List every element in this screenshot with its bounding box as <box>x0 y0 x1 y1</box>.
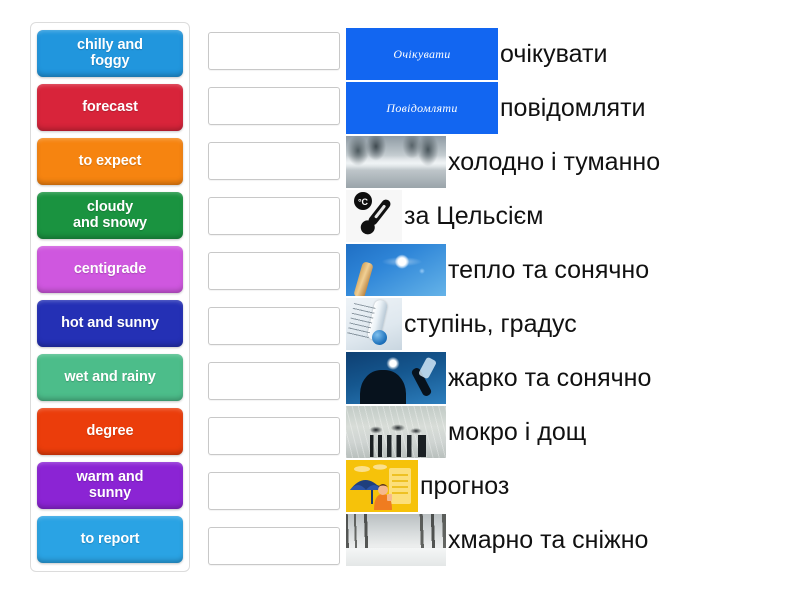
term-tile-chilly-and-foggy[interactable]: chilly and foggy <box>37 30 183 77</box>
term-line-1: cloudy <box>87 199 133 215</box>
foggy-lake-image <box>346 136 446 188</box>
drop-zone-7[interactable] <box>208 362 340 400</box>
term-tile-label: to report <box>81 532 140 548</box>
definition-row: ступінь, градус <box>346 297 798 351</box>
term-tile-hot-and-sunny[interactable]: hot and sunny <box>37 300 183 347</box>
definition-text: за Цельсієм <box>404 204 544 229</box>
snowy-road-image <box>346 514 446 566</box>
drop-zone-10[interactable] <box>208 527 340 565</box>
definition-row: жарко та сонячно <box>346 351 798 405</box>
word-ochikuvaty-image: Очікувати <box>346 28 498 80</box>
definition-row: прогноз <box>346 459 798 513</box>
forecast-umbrella-illustration <box>346 460 418 512</box>
term-line-2: sunny <box>89 485 131 501</box>
drop-zone-6[interactable] <box>208 307 340 345</box>
term-tile-wet-and-rainy[interactable]: wet and rainy <box>37 354 183 401</box>
person-drinking-sun-image <box>346 352 446 404</box>
drop-zone-1[interactable] <box>208 32 340 70</box>
definition-row: °C за Цельсієм <box>346 189 798 243</box>
drop-zone-9[interactable] <box>208 472 340 510</box>
definition-text: мокро і дощ <box>448 420 586 445</box>
definition-row: тепло та сонячно <box>346 243 798 297</box>
term-tile-label: wet and rainy <box>64 370 155 386</box>
term-tile-warm-and-sunny[interactable]: warm and sunny <box>37 462 183 509</box>
term-line-2: foggy <box>91 53 130 69</box>
definition-row: Повідомляти повідомляти <box>346 81 798 135</box>
term-tile-label: warm and sunny <box>77 470 144 501</box>
term-tile-label: hot and sunny <box>61 316 159 332</box>
definition-text: ступінь, градус <box>404 312 577 337</box>
definition-text: очікувати <box>500 42 607 67</box>
term-tile-centigrade[interactable]: centigrade <box>37 246 183 293</box>
definition-text: повідомляти <box>500 96 646 121</box>
drop-zone-4[interactable] <box>208 197 340 235</box>
definition-text: жарко та сонячно <box>448 366 651 391</box>
rainy-street-umbrellas-image <box>346 406 446 458</box>
term-tile-label: cloudy and snowy <box>73 200 147 231</box>
term-line-2: and snowy <box>73 215 147 231</box>
matching-exercise-board: chilly and foggy forecast to expect clou… <box>0 0 800 600</box>
term-tile-label: chilly and foggy <box>77 38 143 69</box>
term-line-1: warm and <box>77 469 144 485</box>
svg-text:°C: °C <box>358 197 369 207</box>
drop-zone-2[interactable] <box>208 87 340 125</box>
drop-zone-3[interactable] <box>208 142 340 180</box>
term-tile-label: centigrade <box>74 262 146 278</box>
drop-zone-8[interactable] <box>208 417 340 455</box>
celsius-thermometer-icon: °C <box>346 190 402 242</box>
word-povidomlyaty-image: Повідомляти <box>346 82 498 134</box>
definition-text: прогноз <box>420 474 509 499</box>
term-tile-label: degree <box>87 424 134 440</box>
definition-row: мокро і дощ <box>346 405 798 459</box>
definition-text: холодно і туманно <box>448 150 660 175</box>
sun-thermometer-image <box>346 244 446 296</box>
term-tile-degree[interactable]: degree <box>37 408 183 455</box>
definition-row: хмарно та сніжно <box>346 513 798 567</box>
definition-row: холодно і туманно <box>346 135 798 189</box>
thermometer-scale-marks <box>347 303 376 341</box>
water-bottle <box>418 357 437 380</box>
term-tile-label: to expect <box>79 154 142 170</box>
term-tile-to-expect[interactable]: to expect <box>37 138 183 185</box>
drop-zones-panel <box>208 32 340 565</box>
thermometer-closeup-image <box>346 298 402 350</box>
terms-panel: chilly and foggy forecast to expect clou… <box>30 22 190 572</box>
term-tile-label: forecast <box>82 100 138 116</box>
drop-zone-5[interactable] <box>208 252 340 290</box>
definition-text: хмарно та сніжно <box>448 528 648 553</box>
term-tile-forecast[interactable]: forecast <box>37 84 183 131</box>
word-image-caption: Очікувати <box>393 47 450 62</box>
term-tile-cloudy-and-snowy[interactable]: cloudy and snowy <box>37 192 183 239</box>
definitions-panel: Очікувати очікувати Повідомляти повідомл… <box>346 27 798 567</box>
word-image-caption: Повідомляти <box>386 101 457 116</box>
term-tile-to-report[interactable]: to report <box>37 516 183 563</box>
definition-row: Очікувати очікувати <box>346 27 798 81</box>
term-line-1: chilly and <box>77 37 143 53</box>
definition-text: тепло та сонячно <box>448 258 649 283</box>
